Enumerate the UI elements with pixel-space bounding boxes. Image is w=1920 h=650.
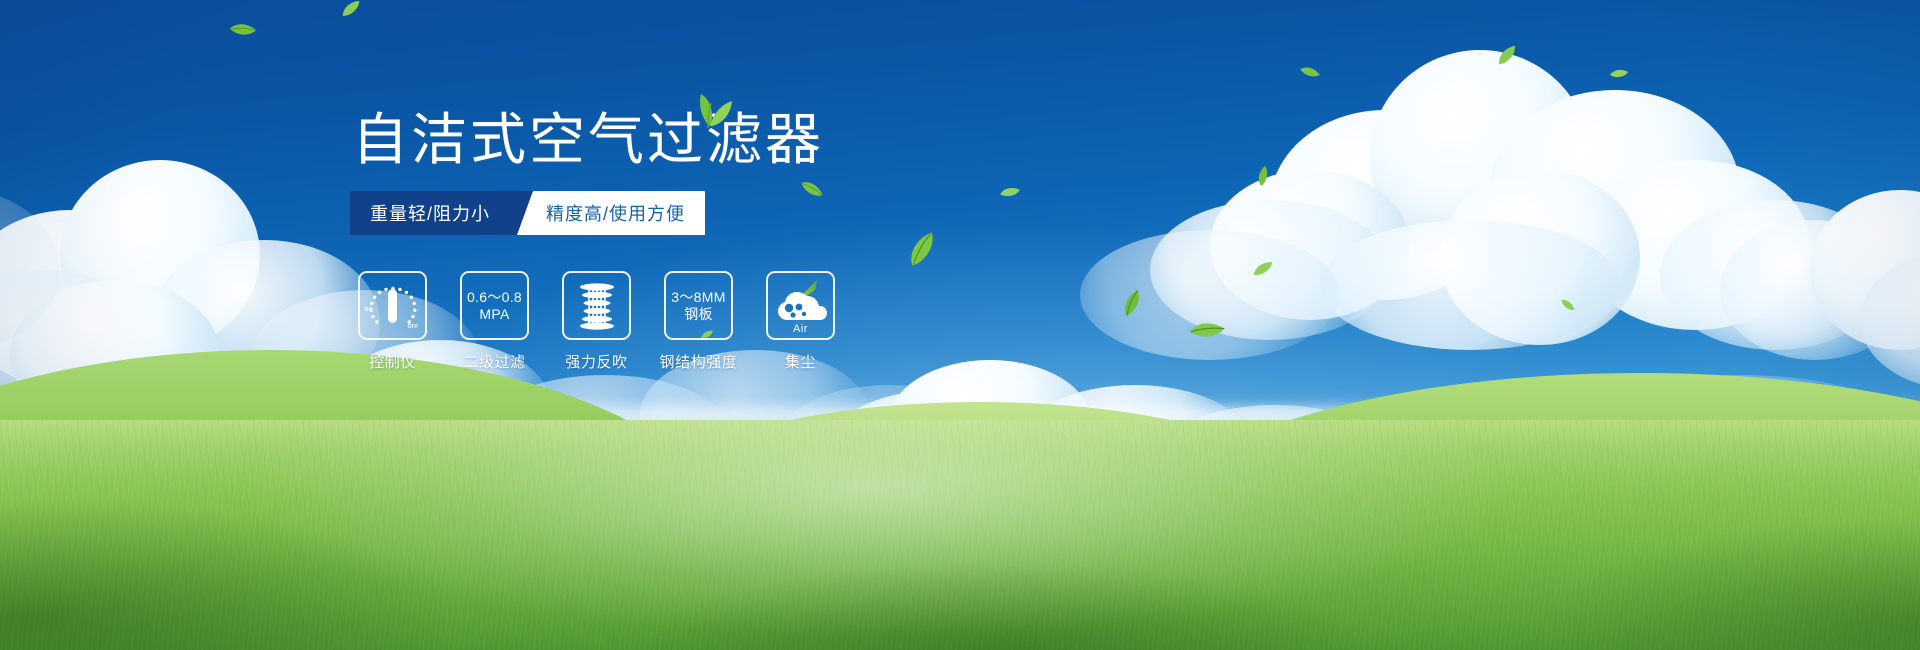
feature-label: 强力反吹 xyxy=(565,351,627,372)
gauge-dial-icon: NO OFF xyxy=(366,281,420,331)
feature-icon-box: NO OFF xyxy=(358,271,427,340)
feature-icon-box: 3～8MM 钢板 xyxy=(664,271,733,340)
steel-value-line1: 3～8MM xyxy=(671,289,725,306)
feature-item-steel-strength[interactable]: 3～8MM 钢板 钢结构强度 xyxy=(664,271,733,372)
gauge-no-label: NO xyxy=(365,307,373,313)
feature-icon-box: 0.6～0.8 MPA xyxy=(460,271,529,340)
feature-icon-row: NO OFF 控制仪 0.6～0.8 MPA 二级过滤 xyxy=(358,271,835,372)
steel-value-line2: 钢板 xyxy=(684,306,713,323)
feature-tabs: 重量轻/阻力小 精度高/使用方便 xyxy=(350,191,705,235)
cloud-air-caption: Air xyxy=(771,323,831,335)
feature-label: 钢结构强度 xyxy=(660,351,738,372)
feature-label: 集尘 xyxy=(785,351,816,372)
feature-item-two-stage-filter[interactable]: 0.6～0.8 MPA 二级过滤 xyxy=(460,271,529,372)
pressure-value-line2: MPA xyxy=(479,306,509,323)
hero-banner: 自洁式空气过滤器 重量轻/阻力小 精度高/使用方便 xyxy=(0,0,1920,650)
title-block: 自洁式空气过滤器 xyxy=(352,112,824,171)
gauge-needle xyxy=(388,289,397,323)
filter-coil-icon xyxy=(576,281,618,331)
feature-icon-box xyxy=(562,271,631,340)
feature-label: 二级过滤 xyxy=(463,351,525,372)
green-leaf-icon xyxy=(682,88,734,133)
gauge-off-label: OFF xyxy=(408,324,419,330)
feature-item-controller[interactable]: NO OFF 控制仪 xyxy=(358,271,427,372)
cloud-air-icon: Air xyxy=(771,280,831,332)
tab-precision-convenience[interactable]: 精度高/使用方便 xyxy=(520,191,705,235)
tab-weight-resistance[interactable]: 重量轻/阻力小 xyxy=(350,191,512,235)
pressure-value-line1: 0.6～0.8 xyxy=(467,289,522,306)
banner-content: 自洁式空气过滤器 重量轻/阻力小 精度高/使用方便 xyxy=(0,0,1920,650)
feature-item-dust-collection[interactable]: Air 集尘 xyxy=(766,271,835,372)
feature-item-reverse-blow[interactable]: 强力反吹 xyxy=(562,271,631,372)
feature-icon-box: Air xyxy=(766,271,835,340)
feature-label: 控制仪 xyxy=(369,351,416,372)
page-title: 自洁式空气过滤器 xyxy=(352,112,824,171)
